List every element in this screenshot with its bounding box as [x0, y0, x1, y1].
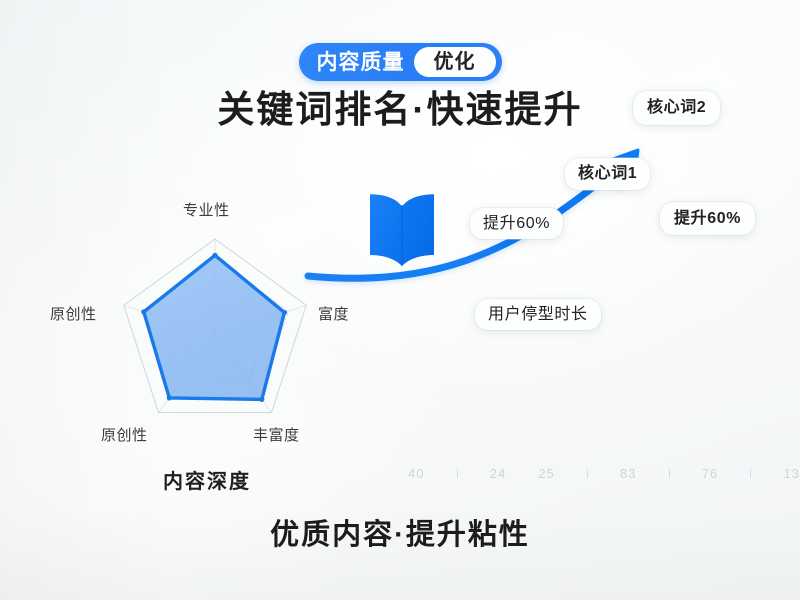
pill-core-keyword-1[interactable]: 核心词1 — [565, 158, 650, 190]
page-subtitle: 优质内容·提升粘性 — [0, 519, 800, 552]
tick-number-4: 76 — [702, 466, 718, 481]
tick-mark — [669, 469, 670, 478]
pill-lift-left[interactable]: 提升60% — [470, 208, 563, 239]
radar-axis-label-1: 富度 — [318, 303, 349, 324]
content-quality-badge[interactable]: 内容质量 优化 — [299, 43, 502, 81]
tick-number-5: 13 — [783, 466, 799, 481]
tick-number-0: 40 — [408, 466, 424, 481]
tick-mark — [457, 469, 458, 478]
tick-number-3: 83 — [620, 466, 636, 481]
tick-mark — [750, 469, 751, 478]
book-right-page — [402, 192, 434, 266]
poster-canvas: 内容质量 优化 关键词排名·快速提升 — [0, 0, 800, 600]
book-left-page — [370, 192, 402, 266]
badge-row: 内容质量 优化 — [0, 43, 800, 81]
tick-mark — [587, 469, 588, 478]
tick-number-1: 24 — [490, 466, 506, 481]
radar-axis-label-0: 专业性 — [183, 199, 230, 220]
pill-lift-right[interactable]: 提升60% — [660, 202, 755, 235]
content-depth-label: 内容深度 — [163, 465, 251, 494]
radar-axis-label-2: 丰富度 — [253, 424, 300, 445]
radar-series-polygon — [144, 255, 285, 399]
axis-tick-strip: 40 24 25 83 76 13 — [408, 460, 800, 486]
pill-core-keyword-2[interactable]: 核心词2 — [633, 91, 720, 125]
pill-dwell-time[interactable]: 用户停型时长 — [475, 299, 601, 330]
radar-axis-label-4: 原创性 — [50, 303, 97, 324]
badge-main-label: 内容质量 — [317, 52, 414, 73]
badge-chip-label: 优化 — [414, 47, 496, 77]
open-book-icon — [364, 183, 440, 271]
tick-number-2: 25 — [538, 466, 554, 481]
radar-chart — [35, 215, 405, 465]
radar-axis-label-3: 原创性 — [101, 424, 148, 445]
